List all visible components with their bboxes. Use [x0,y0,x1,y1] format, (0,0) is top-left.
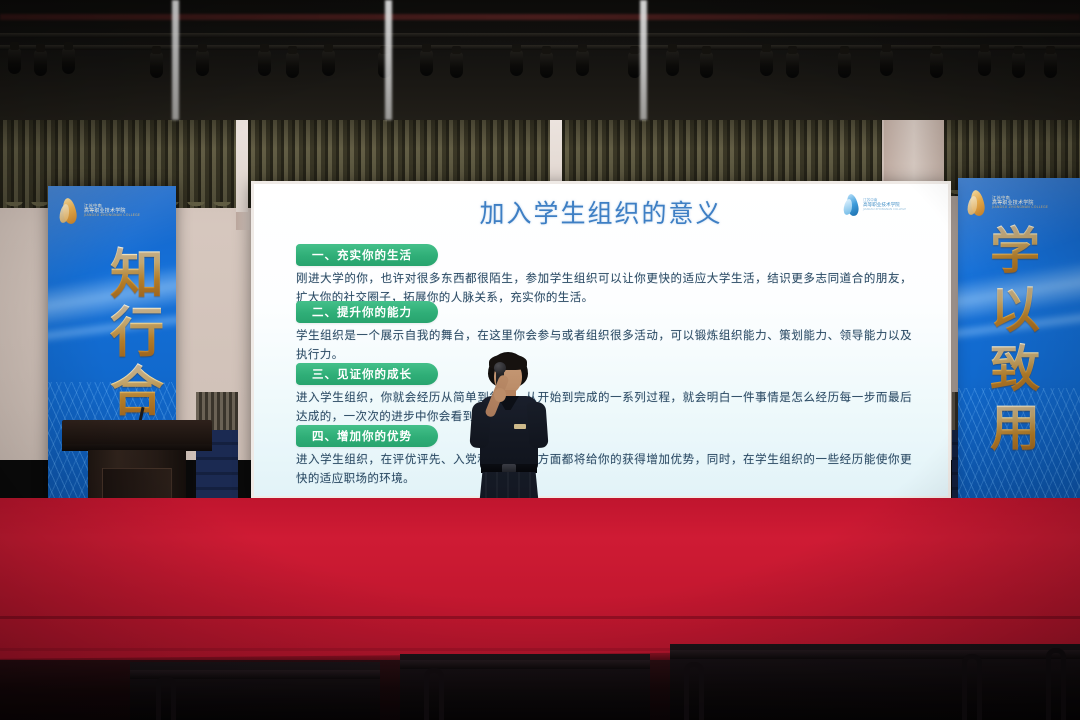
auditorium-scene: 江苏中南 高等职业技术学院 JIANGSU ZHONGNAN COLLEGE 知… [0,0,1080,720]
podium-top [62,420,212,446]
stage-spotlight [760,50,773,76]
seat-handle [424,668,444,720]
banner-left-char-3: 合 [110,363,164,421]
presenter-sleeve-right [526,401,548,448]
ceiling-beam [0,14,1080,20]
presentation-slide: 加入学生组织的意义 江苏中南 高等职业技术学院 JIANGSU ZHONGNAN… [254,184,948,496]
banner-left-char-2: 行 [110,304,164,362]
banner-right: 江苏中南 高等职业技术学院 JIANGSU ZHONGNAN COLLEGE 学… [958,178,1080,508]
stage-spotlight [150,52,163,78]
slide-section-2: 二、提升你的能力 学生组织是一个展示自我的舞台，在这里你会参与或者组织很多活动，… [296,301,912,363]
ceiling [0,0,1080,120]
slide-logo: 江苏中南 高等职业技术学院 JIANGSU ZHONGNAN COLLEGE [844,194,906,216]
stage-spotlight [540,52,553,78]
seat-handle [684,662,704,720]
banner-right-logo-line3: JIANGSU ZHONGNAN COLLEGE [992,206,1048,210]
section-1-heading: 一、充实你的生活 [296,244,438,266]
section-2-body: 学生组织是一个展示自我的舞台，在这里你会参与或者组织很多活动，可以锻炼组织能力、… [296,326,912,363]
stage-spotlight [786,52,799,78]
banner-left-logo-line3: JIANGSU ZHONGNAN COLLEGE [84,214,140,218]
stage-spotlight [1044,52,1057,78]
stage-spotlight [62,48,75,74]
microphone-icon [494,362,506,374]
banner-right-char-4: 用 [990,399,1040,458]
stage-spotlight [34,50,47,76]
banner-left-logo: 江苏中南 高等职业技术学院 JIANGSU ZHONGNAN COLLEGE [60,198,140,224]
blue-flame-icon [844,194,860,216]
seat-handle [1046,648,1066,720]
belt-buckle-icon [502,464,516,473]
section-3-heading: 三、见证你的成长 [296,363,438,385]
stage-spotlight [576,50,589,76]
lighting-truss [0,33,1080,38]
stage-spotlight [880,50,893,76]
stage-spotlight [8,48,21,74]
seat-handle [156,676,176,720]
stage-spotlight [196,50,209,76]
stage-spotlight [286,52,299,78]
stage-spotlight [258,50,271,76]
section-4-body: 进入学生组织，在评优评先、入党和实习就业方面都将给你的获得增加优势，同时，在学生… [296,450,912,487]
audience-seat-back [670,644,1080,720]
banner-left-char-1: 知 [110,246,164,304]
banner-right-logo: 江苏中南 高等职业技术学院 JIANGSU ZHONGNAN COLLEGE [968,190,1048,216]
stage-spotlight [1012,52,1025,78]
stage-spotlight [322,50,335,76]
carpet-seam [0,616,1080,619]
stage-spotlight [510,50,523,76]
seat-handle [962,654,982,720]
ceiling-light-strip [385,0,392,120]
gold-flame-icon [60,198,80,224]
slide-section-1: 一、充实你的生活 刚进大学的你，也许对很多东西都很陌生，参加学生组织可以让你更快… [296,244,912,306]
lighting-truss [0,45,1080,50]
slide-section-3: 三、见证你的成长 进入学生组织，你就会经历从简单到复杂，从开始到完成的一系列过程… [296,363,912,425]
stage-spotlight [666,50,679,76]
gold-flame-icon [968,190,988,216]
presenter-hand [494,388,506,402]
slide-logo-line3: JIANGSU ZHONGNAN COLLEGE [863,208,906,211]
stage-spotlight [838,52,851,78]
banner-right-char-3: 致 [990,340,1040,399]
banner-right-char-2: 以 [990,281,1040,340]
section-3-body: 进入学生组织，你就会经历从简单到复杂，从开始到完成的一系列过程，就会明白一件事情… [296,388,912,425]
ceiling-light-strip [640,0,647,120]
section-4-heading: 四、增加你的优势 [296,425,438,447]
presenter-name-badge [514,424,526,429]
section-2-heading: 二、提升你的能力 [296,301,438,323]
slide-section-4: 四、增加你的优势 进入学生组织，在评优评先、入党和实习就业方面都将给你的获得增加… [296,425,912,487]
stage-spotlight [420,50,433,76]
stage-spotlight [450,52,463,78]
stage-spotlight [978,50,991,76]
banner-right-char-1: 学 [990,222,1040,281]
projection-screen: 加入学生组织的意义 江苏中南 高等职业技术学院 JIANGSU ZHONGNAN… [251,181,951,499]
ceiling-light-strip [172,0,179,120]
stage-spotlight [930,52,943,78]
stage-spotlight [700,52,713,78]
